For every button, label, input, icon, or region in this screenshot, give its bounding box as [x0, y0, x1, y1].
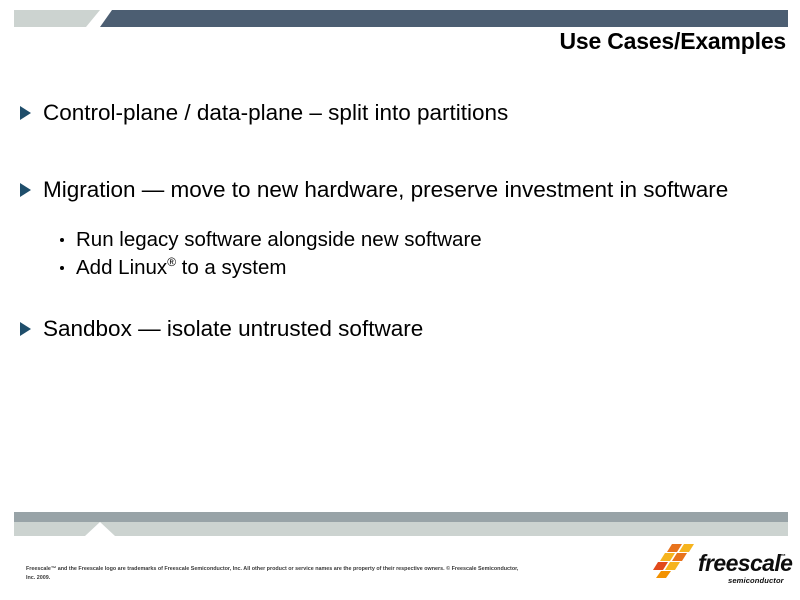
bullet-item: Sandbox — isolate untrusted software: [18, 314, 758, 343]
freescale-tagline: semiconductor: [728, 576, 784, 585]
triangle-bullet-icon: [20, 322, 31, 336]
footer-bar-dark-segment: [14, 512, 788, 522]
slide-title: Use Cases/Examples: [559, 28, 786, 55]
header-bar-dark-segment: [100, 10, 788, 27]
dot-bullet-icon: [60, 238, 64, 242]
spacer: [18, 282, 758, 314]
bullet-item: Migration — move to new hardware, preser…: [18, 175, 758, 204]
sub-bullet-text: Run legacy software alongside new softwa…: [76, 228, 482, 251]
footer-legal-line-2-prefix: owners.: [424, 566, 446, 572]
freescale-wordmark: freescale: [698, 552, 792, 575]
freescale-logo: freescale ™ semiconductor: [652, 543, 788, 589]
spacer: [18, 212, 758, 226]
spacer: [18, 135, 758, 175]
sub-bullet-item: Add Linux® to a system: [18, 254, 758, 282]
bullet-text: Control-plane / data-plane – split into …: [43, 100, 508, 125]
bullet-text: Sandbox — isolate untrusted software: [43, 316, 423, 341]
dot-bullet-icon: [60, 266, 64, 270]
slide-body: Control-plane / data-plane – split into …: [18, 98, 758, 351]
triangle-bullet-icon: [20, 183, 31, 197]
bullet-item: Control-plane / data-plane – split into …: [18, 98, 758, 127]
registered-trademark-icon: ®: [167, 255, 176, 269]
trademark-icon: ™: [780, 554, 786, 560]
footer-bar-light-segment: [14, 522, 788, 536]
sub-bullet-text-after: to a system: [176, 256, 287, 279]
footer-legal-line-1: Freescale™ and the Freescale logo are tr…: [26, 566, 423, 572]
header-bar: [0, 10, 800, 27]
footer-legal-text: Freescale™ and the Freescale logo are tr…: [26, 565, 526, 583]
sub-bullet-text-before: Add Linux: [76, 256, 167, 279]
slide-canvas: Use Cases/Examples Control-plane / data-…: [0, 0, 800, 600]
triangle-bullet-icon: [20, 106, 31, 120]
sub-bullet-item: Run legacy software alongside new softwa…: [18, 226, 758, 254]
freescale-logo-mark-icon: [652, 543, 698, 579]
header-bar-light-segment: [14, 10, 100, 27]
bullet-text: Migration — move to new hardware, preser…: [43, 177, 728, 202]
